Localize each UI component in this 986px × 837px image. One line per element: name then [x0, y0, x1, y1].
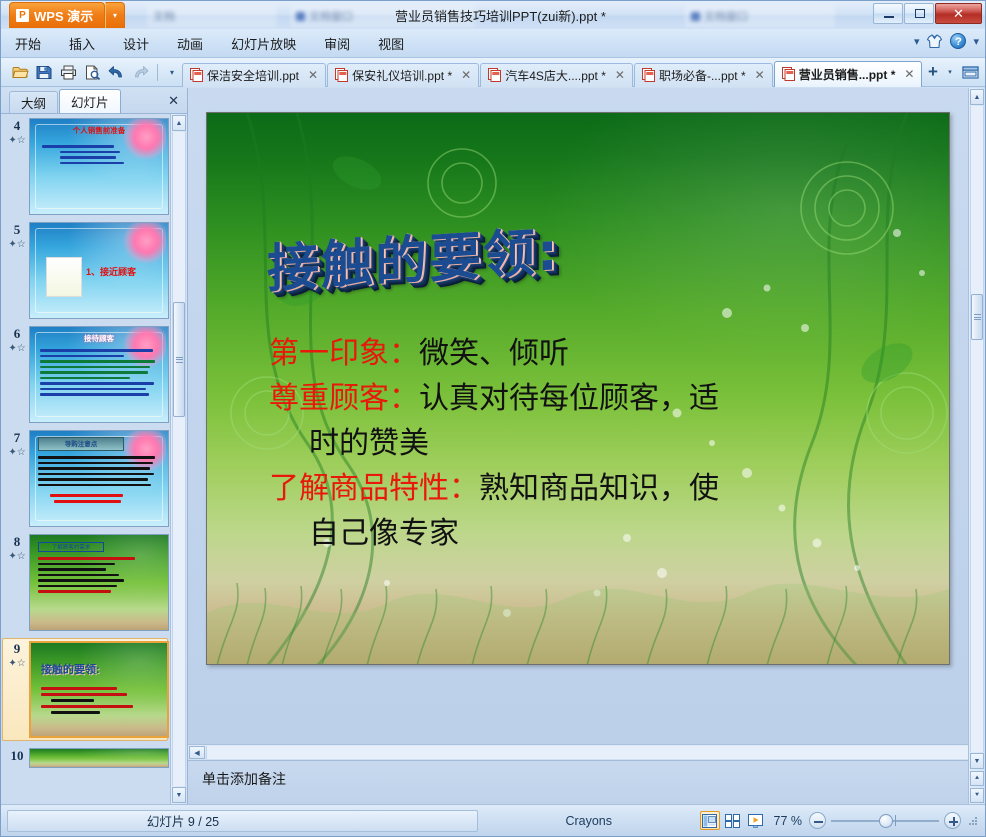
ppt-file-icon	[190, 68, 203, 82]
thumbnail-title: 个人销售前准备	[30, 125, 168, 136]
document-tab-2[interactable]: 保安礼仪培训.ppt * ✕	[327, 63, 479, 87]
menu-bar-right-tools: ▾ ? ▾	[914, 33, 979, 49]
slide-scroll-down-button[interactable]: ▼	[970, 753, 984, 769]
background-tab-2-label: 文档窗口	[309, 8, 353, 24]
document-tab-1-label: 保洁安全培训.ppt	[207, 67, 299, 84]
slide-body-line-1-text: 微笑、倾听	[419, 336, 569, 371]
menu-item-insert[interactable]: 插入	[55, 30, 109, 57]
thumbnail-number-group: 9 ✦☆	[5, 641, 29, 669]
wps-brand-dropdown[interactable]: ▾	[105, 2, 125, 28]
next-slide-button[interactable]: ⯆	[970, 788, 984, 803]
background-tab-3: 文档窗口	[685, 5, 835, 27]
slides-panel: 大纲 幻灯片 ✕ 4 ✦☆ 个人销售前准备	[1, 88, 188, 804]
slide-body-line-5: 自己像专家	[269, 511, 894, 556]
slide-body-line-3-text: 时的赞美	[309, 426, 429, 461]
document-tab-3-label: 汽车4S店大....ppt *	[505, 67, 606, 84]
thumbnail-item-7[interactable]: 7 ✦☆ 导购注意点	[3, 430, 168, 527]
menu-item-slideshow[interactable]: 幻灯片放映	[217, 30, 310, 57]
wps-logo-icon: P	[16, 9, 29, 22]
thumbnail-preview[interactable]: 导购注意点	[29, 430, 169, 527]
document-tab-4-label: 职场必备-...ppt *	[659, 67, 746, 84]
status-bar: 幻灯片 9 / 25 Crayons	[1, 804, 985, 836]
toolbar-buttons: ▾	[1, 61, 180, 83]
thumbnail-body-lines	[41, 687, 149, 717]
scroll-left-button[interactable]: ◀	[189, 746, 205, 759]
background-tab-2-icon	[296, 12, 305, 21]
slide-body-line-4: 了解商品特性：熟知商品知识，使	[269, 466, 894, 511]
menu-item-design[interactable]: 设计	[109, 30, 163, 57]
slide-scroll-track[interactable]	[970, 106, 984, 752]
thumbnail-item-5[interactable]: 5 ✦☆ 1、接近顾客	[3, 222, 168, 319]
slide-body-line-2-text: 认真对待每位顾客，适	[419, 381, 719, 416]
zoom-slider-knob[interactable]	[879, 814, 893, 828]
skin-icon[interactable]	[926, 34, 943, 49]
ppt-file-icon	[335, 68, 348, 82]
toolbar-overflow-icon[interactable]: ▾	[164, 61, 180, 83]
slide-body-line-3: 时的赞美	[269, 421, 894, 466]
animation-star-icon: ✦☆	[5, 343, 29, 354]
slide-body-line-2-highlight: 尊重顾客：	[269, 381, 419, 416]
panel-tab-strip: 大纲 幻灯片 ✕	[1, 88, 187, 114]
current-slide[interactable]: 接触的要领: 第一印象：微笑、倾听 尊重顾客：认真对待每位顾客，适 时的赞美 了…	[206, 112, 950, 665]
resize-grip-icon[interactable]	[967, 815, 979, 827]
ppt-file-icon	[488, 68, 501, 82]
new-tab-button[interactable]: +	[923, 62, 943, 82]
thumbnail-preview[interactable]: 了解顾客的需求	[29, 534, 169, 631]
slide-body-line-1-highlight: 第一印象：	[269, 336, 419, 371]
status-spacer-panel	[358, 810, 478, 832]
menu-item-view[interactable]: 视图	[364, 30, 418, 57]
thumbnail-preview[interactable]: 接待顾客	[29, 326, 169, 423]
thumbnail-number: 9	[5, 641, 29, 657]
slide-body-line-2: 尊重顾客：认真对待每位顾客，适	[269, 376, 894, 421]
background-tab-1-label: 文档	[153, 8, 175, 24]
animation-star-icon: ✦☆	[5, 447, 29, 458]
slide-vertical-scrollbar[interactable]: ▲ ▼ ⯅ ⯆	[968, 88, 985, 804]
zoom-out-button[interactable]	[809, 812, 826, 829]
thumbnail-body-lines	[42, 145, 158, 167]
flower-decor-icon	[122, 223, 166, 263]
window-title: 营业员销售技巧培训PPT(zui新).ppt *	[395, 6, 606, 25]
slide-scroll-thumb[interactable]	[971, 294, 983, 340]
thumbnail-list[interactable]: 4 ✦☆ 个人销售前准备	[1, 114, 170, 804]
title-bar: P WPS 演示 ▾ 文档 文档窗口 文档窗口 营业员销售技巧培训PPT(zui…	[1, 1, 985, 29]
view-mode-buttons	[700, 811, 766, 830]
thumbnail-preview[interactable]: 接触的要领:	[29, 641, 169, 738]
thumbnail-item-8[interactable]: 8 ✦☆ 了解顾客的需求	[3, 534, 168, 631]
angel-image	[46, 257, 82, 297]
thumbnails-scroll-down-button[interactable]: ▼	[172, 787, 186, 803]
minimize-icon	[884, 16, 894, 18]
scroll-grip-icon	[176, 355, 183, 364]
thumbnail-number-group: 10	[5, 748, 29, 764]
work-area: 大纲 幻灯片 ✕ 4 ✦☆ 个人销售前准备	[1, 88, 985, 804]
quick-access-toolbar: ▾ 保洁安全培训.ppt ✕ 保安礼仪培训.ppt * ✕	[1, 58, 985, 87]
animation-star-icon: ✦☆	[5, 135, 29, 146]
ppt-file-icon	[642, 68, 655, 82]
slide-editor: 接触的要领: 第一印象：微笑、倾听 尊重顾客：认真对待每位顾客，适 时的赞美 了…	[188, 88, 968, 804]
thumbnails-scrollbar[interactable]: ▲ ▼	[170, 114, 187, 804]
thumbnail-number: 10	[5, 748, 29, 764]
tab-strip-controls: + ▾	[923, 62, 985, 82]
plus-icon-v	[953, 817, 955, 826]
ppt-file-icon	[782, 67, 795, 81]
slide-counter: 幻灯片 9 / 25	[7, 810, 359, 832]
document-tab-1-close[interactable]: ✕	[306, 68, 320, 82]
open-button[interactable]	[9, 61, 31, 83]
zoom-slider-tick	[895, 815, 896, 826]
document-tab-4-close[interactable]: ✕	[753, 68, 767, 82]
close-button[interactable]: ✕	[935, 3, 982, 24]
wps-presentation-window: P WPS 演示 ▾ 文档 文档窗口 文档窗口 营业员销售技巧培训PPT(zui…	[0, 0, 986, 837]
thumbnail-number-group: 6 ✦☆	[5, 326, 29, 354]
thumbnail-item-4[interactable]: 4 ✦☆ 个人销售前准备	[3, 118, 168, 215]
document-tab-5-active[interactable]: 营业员销售...ppt * ✕	[774, 61, 923, 87]
slide-canvas-stage[interactable]: 接触的要领: 第一印象：微笑、倾听 尊重顾客：认真对待每位顾客，适 时的赞美 了…	[188, 88, 968, 744]
thumbnail-number: 4	[5, 118, 29, 134]
thumbnail-number-group: 4 ✦☆	[5, 118, 29, 146]
slide-sorter-button[interactable]	[723, 811, 743, 830]
document-tab-1[interactable]: 保洁安全培训.ppt ✕	[182, 63, 326, 87]
menu-item-start[interactable]: 开始	[1, 30, 55, 57]
document-tab-5-label: 营业员销售...ppt *	[799, 66, 896, 83]
thumbnail-item-6[interactable]: 6 ✦☆ 接待顾客	[3, 326, 168, 423]
document-tab-5-close[interactable]: ✕	[902, 67, 916, 81]
thumbnail-item-10[interactable]: 10	[3, 748, 168, 768]
slide-body-line-4-text: 熟知商品知识，使	[479, 471, 719, 506]
wps-brand-label: WPS 演示	[34, 6, 93, 25]
previous-slide-button[interactable]: ⯅	[970, 771, 984, 786]
maximize-button[interactable]	[904, 3, 934, 24]
document-tabs: 保洁安全培训.ppt ✕ 保安礼仪培训.ppt * ✕ 汽车4S店大....pp…	[182, 58, 923, 87]
thumbnail-title: 1、接近顾客	[86, 265, 136, 278]
print-preview-button[interactable]	[81, 61, 103, 83]
maximize-icon	[915, 9, 925, 18]
thumbnail-title: 导购注意点	[38, 437, 124, 451]
minimize-button[interactable]	[873, 3, 903, 24]
animation-star-icon: ✦☆	[5, 658, 29, 669]
thumbnail-number-group: 5 ✦☆	[5, 222, 29, 250]
window-controls: ✕	[873, 3, 982, 24]
thumbnail-number-group: 7 ✦☆	[5, 430, 29, 458]
slide-scroll-up-button[interactable]: ▲	[970, 89, 984, 105]
thumbnail-preview[interactable]: 1、接近顾客	[29, 222, 169, 319]
horizontal-scroll-track[interactable]	[206, 746, 968, 759]
notes-placeholder: 单击添加备注	[202, 771, 286, 787]
thumbnails-scroll-thumb[interactable]	[173, 302, 185, 417]
new-tab-dropdown-icon[interactable]: ▾	[945, 68, 955, 76]
menu-item-review[interactable]: 审阅	[310, 30, 364, 57]
thumbnail-preview[interactable]: 个人销售前准备	[29, 118, 169, 215]
zoom-in-button[interactable]	[944, 812, 961, 829]
thumbnail-title: 了解顾客的需求	[38, 542, 104, 552]
help-dropdown-icon[interactable]: ▾	[973, 35, 979, 48]
thumbnail-preview[interactable]	[29, 748, 169, 768]
document-tab-3[interactable]: 汽车4S店大....ppt * ✕	[480, 63, 633, 87]
scroll-grip-icon	[974, 313, 981, 322]
slide-body-line-1: 第一印象：微笑、倾听	[269, 331, 894, 376]
menu-item-animation[interactable]: 动画	[163, 30, 217, 57]
thumbnails-scroll-track[interactable]	[172, 132, 186, 786]
thumbnail-title: 接触的要领:	[41, 661, 100, 677]
thumbnail-background	[30, 749, 168, 767]
tab-outline[interactable]: 大纲	[9, 91, 58, 113]
document-tab-3-close[interactable]: ✕	[613, 68, 627, 82]
window-switch-icon[interactable]	[962, 65, 980, 80]
thumbnail-body-lines	[38, 456, 160, 506]
animation-star-icon: ✦☆	[5, 239, 29, 250]
thumbnail-body-lines	[38, 557, 148, 596]
help-icon[interactable]: ?	[950, 33, 966, 49]
wps-brand-button[interactable]: P WPS 演示	[9, 2, 105, 28]
chevron-down-icon[interactable]: ▾	[914, 35, 920, 48]
slide-body-textbox[interactable]: 第一印象：微笑、倾听 尊重顾客：认真对待每位顾客，适 时的赞美 了解商品特性：熟…	[269, 331, 894, 556]
slide-body-line-4-highlight: 了解商品特性：	[269, 471, 479, 506]
save-button[interactable]	[33, 61, 55, 83]
document-tab-2-close[interactable]: ✕	[459, 68, 473, 82]
normal-view-button[interactable]	[700, 811, 720, 830]
thumbnail-number: 5	[5, 222, 29, 238]
document-tab-4[interactable]: 职场必备-...ppt * ✕	[634, 63, 773, 87]
slide-title-wordart[interactable]: 接触的要领:	[267, 209, 560, 302]
menu-bar: 开始 插入 设计 动画 幻灯片放映 审阅 视图 ▾ ? ▾	[1, 29, 985, 58]
thumbnail-item-9-selected[interactable]: 9 ✦☆ 接触的要领:	[2, 638, 168, 741]
thumbnail-number: 7	[5, 430, 29, 446]
zoom-level-label: 77 %	[774, 814, 803, 828]
toolbar-divider	[157, 64, 158, 81]
minus-icon	[814, 821, 823, 823]
theme-name: Crayons	[478, 814, 700, 828]
thumbnail-title: 接待顾客	[30, 333, 168, 344]
undo-button[interactable]	[105, 61, 127, 83]
thumbnail-number: 8	[5, 534, 29, 550]
thumbnail-number-group: 8 ✦☆	[5, 534, 29, 562]
tab-slides[interactable]: 幻灯片	[59, 89, 121, 113]
thumbnails-scroll-up-button[interactable]: ▲	[172, 115, 186, 131]
print-button[interactable]	[57, 61, 79, 83]
background-tab-3-label: 文档窗口	[704, 8, 748, 24]
thumbnail-number: 6	[5, 326, 29, 342]
notes-horizontal-scrollbar[interactable]: ◀	[188, 744, 968, 760]
panel-close-button[interactable]: ✕	[168, 93, 179, 109]
zoom-slider-track[interactable]	[831, 820, 939, 822]
background-tab-1: 文档	[147, 5, 277, 27]
slide-body-line-5-text: 自己像专家	[309, 516, 459, 551]
document-tab-2-label: 保安礼仪培训.ppt *	[352, 67, 452, 84]
thumbnail-body-lines	[40, 349, 160, 399]
redo-button[interactable]	[129, 61, 151, 83]
background-tab-3-icon	[691, 12, 700, 21]
thumbnails-container: 4 ✦☆ 个人销售前准备	[1, 114, 187, 804]
animation-star-icon: ✦☆	[5, 551, 29, 562]
slideshow-button[interactable]	[746, 811, 766, 830]
notes-pane[interactable]: 单击添加备注	[188, 760, 968, 804]
